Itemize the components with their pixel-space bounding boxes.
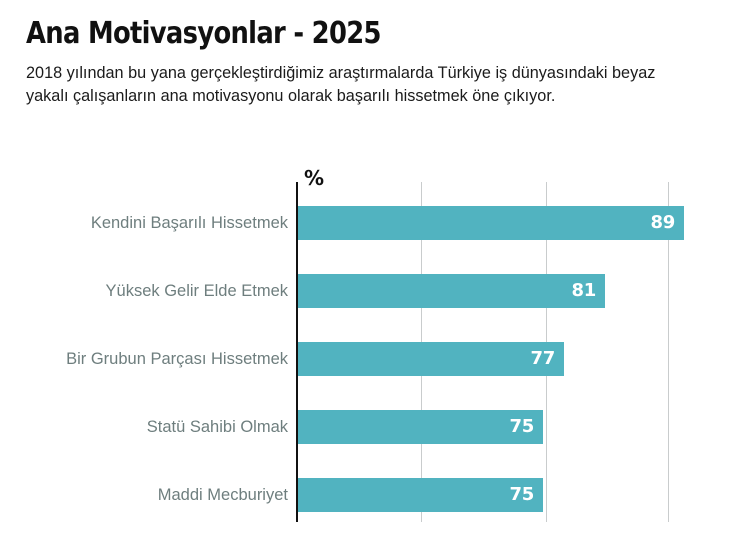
bar-track: 81 — [298, 274, 605, 308]
bar-fill[interactable] — [298, 478, 543, 512]
bar-row: Kendini Başarılı Hissetmek 89 — [0, 206, 735, 240]
bar-value-label: 77 — [531, 342, 555, 376]
bar-track: 75 — [298, 410, 543, 444]
bar-value-label: 89 — [651, 206, 675, 240]
bar-fill[interactable] — [298, 206, 684, 240]
bar-fill[interactable] — [298, 274, 605, 308]
chart-subtitle: 2018 yılından bu yana gerçekleştirdiğimi… — [26, 62, 656, 109]
bar-category-label: Bir Grubun Parçası Hissetmek — [66, 342, 288, 376]
chart-plot-area: % Kendini Başarılı Hissetmek 89 Yüksek G… — [0, 168, 735, 549]
bar-category-label: Kendini Başarılı Hissetmek — [91, 206, 288, 240]
bar-category-label: Statü Sahibi Olmak — [147, 410, 288, 444]
bar-track: 89 — [298, 206, 684, 240]
bar-track: 75 — [298, 478, 543, 512]
bar-fill[interactable] — [298, 342, 564, 376]
bar-value-label: 75 — [510, 478, 534, 512]
bar-row: Maddi Mecburiyet 75 — [0, 478, 735, 512]
chart-page: Ana Motivasyonlar - 2025 2018 yılından b… — [0, 0, 735, 549]
bar-category-label: Yüksek Gelir Elde Etmek — [106, 274, 288, 308]
bar-row: Yüksek Gelir Elde Etmek 81 — [0, 274, 735, 308]
bar-series: Kendini Başarılı Hissetmek 89 Yüksek Gel… — [0, 168, 735, 549]
bar-value-label: 81 — [572, 274, 596, 308]
bar-row: Statü Sahibi Olmak 75 — [0, 410, 735, 444]
bar-fill[interactable] — [298, 410, 543, 444]
bar-category-label: Maddi Mecburiyet — [158, 478, 288, 512]
bar-value-label: 75 — [510, 410, 534, 444]
page-title: Ana Motivasyonlar - 2025 — [26, 18, 594, 50]
bar-track: 77 — [298, 342, 564, 376]
chart-header: Ana Motivasyonlar - 2025 2018 yılından b… — [26, 18, 686, 108]
bar-row: Bir Grubun Parçası Hissetmek 77 — [0, 342, 735, 376]
